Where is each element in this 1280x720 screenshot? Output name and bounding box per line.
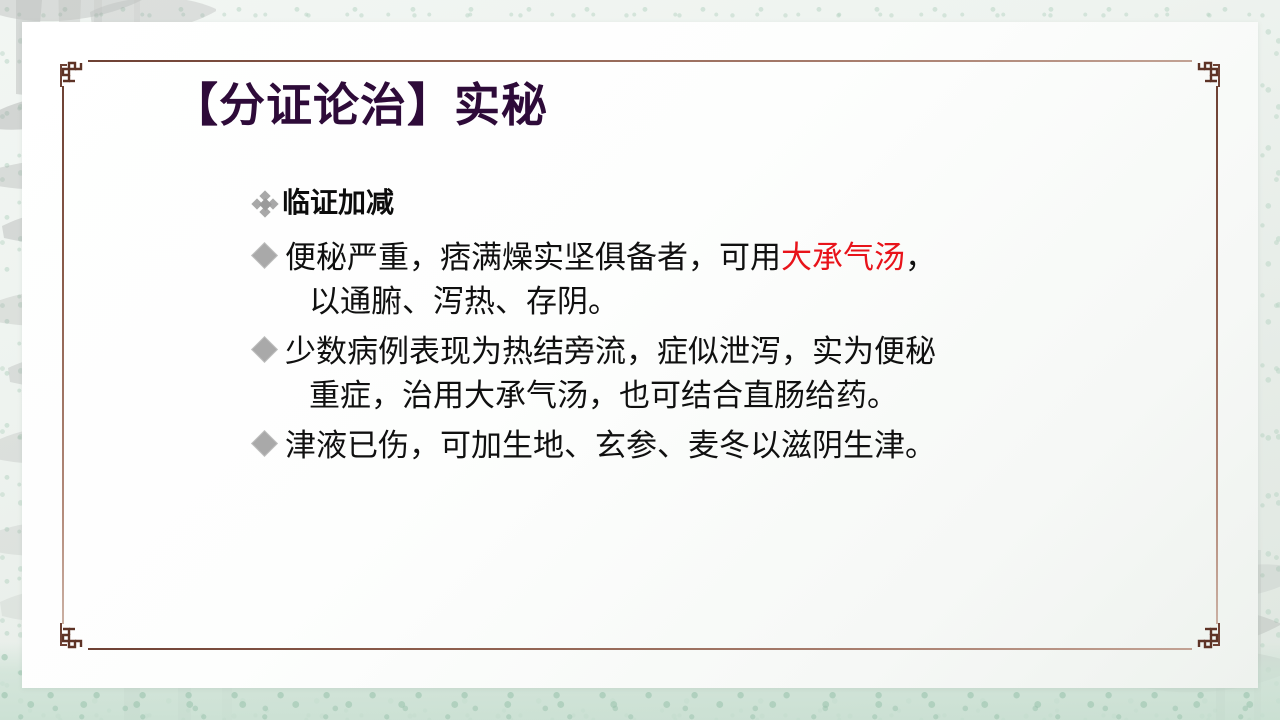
bullet-item-2: 少数病例表现为热结旁流，症似泄泻，实为便秘重症，治用大承气汤，也可结合直肠给药。 <box>254 330 1134 418</box>
bullet-item-1-pre: 便秘严重，痞满燥实坚俱备者，可用 <box>285 240 781 275</box>
slide-card: 【分证论治】实秘 临证加减 便秘严重，痞满燥实坚俱备者，可用大承气汤，以通腑、泻… <box>22 22 1258 688</box>
frame-line-top <box>88 60 1192 62</box>
slide-root: 【分证论治】实秘 临证加减 便秘严重，痞满燥实坚俱备者，可用大承气汤，以通腑、泻… <box>0 0 1280 720</box>
corner-ornament-top-left-icon <box>58 56 92 90</box>
bullet-item-3-pre: 津液已伤，可加生地、玄参、麦冬以滋阴生津。 <box>285 428 936 463</box>
corner-ornament-bottom-left-icon <box>58 620 92 654</box>
bullet-item-1-accent: 大承气汤 <box>781 240 905 275</box>
frame-line-bottom <box>88 648 1192 650</box>
corner-ornament-bottom-right-icon <box>1188 620 1222 654</box>
bullet-level1-label: 临证加减 <box>282 184 394 222</box>
frame-line-left <box>62 86 64 624</box>
corner-ornament-top-right-icon <box>1188 56 1222 90</box>
bullet-item-1: 便秘严重，痞满燥实坚俱备者，可用大承气汤，以通腑、泻热、存阴。 <box>254 236 1134 324</box>
diamond-cluster-icon <box>254 184 280 216</box>
bullet-item-2-pre: 少数病例表现为热结旁流，症似泄泻，实为便秘 <box>285 334 936 369</box>
bullet-item-1-text: 便秘严重，痞满燥实坚俱备者，可用大承气汤，以通腑、泻热、存阴。 <box>285 236 1134 324</box>
bullet-level1: 临证加减 <box>254 184 1134 222</box>
bullet-item-3-text: 津液已伤，可加生地、玄参、麦冬以滋阴生津。 <box>285 424 1134 468</box>
bullet-item-2-line2: 重症，治用大承气汤，也可结合直肠给药。 <box>285 374 1134 418</box>
bullet-item-3: 津液已伤，可加生地、玄参、麦冬以滋阴生津。 <box>254 424 1134 468</box>
slide-title: 【分证论治】实秘 <box>172 78 548 133</box>
bullet-item-1-post: ， <box>905 240 936 275</box>
diamond-icon <box>254 236 284 272</box>
diamond-icon <box>254 330 284 366</box>
bullet-item-2-text: 少数病例表现为热结旁流，症似泄泻，实为便秘重症，治用大承气汤，也可结合直肠给药。 <box>285 330 1134 418</box>
slide-body: 临证加减 便秘严重，痞满燥实坚俱备者，可用大承气汤，以通腑、泻热、存阴。 少数病… <box>254 184 1134 474</box>
bullet-item-1-line2: 以通腑、泻热、存阴。 <box>285 280 1134 324</box>
diamond-icon <box>254 424 284 460</box>
frame-line-right <box>1216 86 1218 624</box>
